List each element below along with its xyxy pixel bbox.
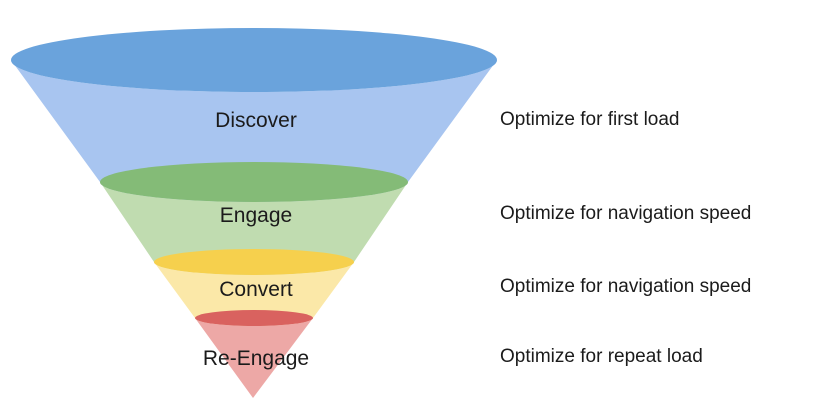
funnel-label-re-engage: Re-Engage [203,347,309,370]
engage-rim-ellipse [100,162,408,202]
convert-rim-ellipse [154,249,354,275]
stage-note-discover: Optimize for first load [500,109,680,130]
re-engage-rim-ellipse [195,310,313,326]
stage-note-engage: Optimize for navigation speed [500,203,751,224]
funnel-label-engage: Engage [220,204,292,227]
funnel-label-convert: Convert [219,278,293,301]
stage-note-convert: Optimize for navigation speed [500,276,751,297]
discover-rim-ellipse [11,28,497,92]
stage-note-re-engage: Optimize for repeat load [500,346,703,367]
funnel-diagram: Discover Engage Convert Re-Engage Optimi… [0,0,837,417]
funnel-label-discover: Discover [215,109,297,132]
